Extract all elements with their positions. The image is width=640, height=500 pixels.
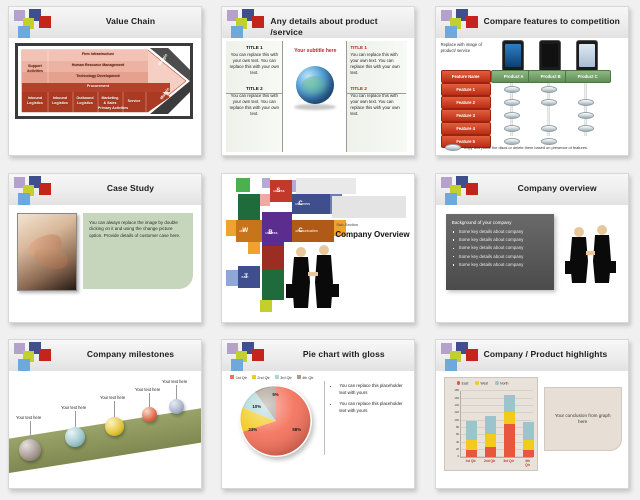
feature-cell-2: Feature 2 <box>441 96 491 109</box>
slide-header: Any details about product /service <box>222 7 414 39</box>
tile-label-success: Success <box>273 188 284 194</box>
slide-title: Company milestones <box>64 349 197 360</box>
gallery-cell: Any details about product /service TITLE… <box>213 0 426 167</box>
feature-disc[interactable] <box>541 86 557 93</box>
four-squares-logo-icon <box>13 176 59 206</box>
slide-body: Your text here Your text here Your text … <box>9 371 201 488</box>
column-divider <box>226 93 282 94</box>
pie-bullets: You can replace this placeholder text wi… <box>332 383 409 419</box>
bar-4th-qtr <box>523 422 534 458</box>
list-item: Some key details about company <box>452 236 548 244</box>
column-divider <box>346 93 406 94</box>
slide-header: Company overview <box>436 174 628 206</box>
y-tick: 120 <box>454 410 459 414</box>
pie-label-1: 58% <box>292 427 301 432</box>
handshake-silhouette <box>564 223 616 290</box>
slide-body: Background of your company Some key deta… <box>436 205 628 322</box>
background-info-box: Background of your company Some key deta… <box>446 214 554 290</box>
tile-label-communication: Communication <box>295 228 317 234</box>
gallery-cell: Pie chart with gloss 1st Qtr 2nd Qtr 3rd… <box>213 333 426 500</box>
four-squares-logo-icon <box>440 9 486 39</box>
handshake-photo <box>17 213 77 291</box>
x-tick: 3rd Qtr <box>503 459 514 463</box>
x-tick: 4th Qtr <box>525 459 530 467</box>
slide-title: Compare features to competition <box>484 16 624 27</box>
four-squares-logo-icon <box>13 9 59 39</box>
slide-header: Value Chain <box>9 7 201 39</box>
y-tick: 100 <box>454 418 459 422</box>
legend-entry-west: West <box>475 381 488 386</box>
tile-label-customers: Customers <box>295 201 310 207</box>
globe-shadow <box>294 104 336 110</box>
sub-section-label: Sub-Section <box>336 222 358 227</box>
case-study-body: You can always replace the image by doub… <box>83 213 193 247</box>
slide-title: Case Study <box>64 183 197 194</box>
feature-disc[interactable] <box>578 99 594 106</box>
left-text-1: You can replace this with your own text.… <box>226 50 282 76</box>
box-heading: Background of your company <box>446 214 554 228</box>
leader-line <box>30 421 31 439</box>
list-item: Some key details about company <box>452 253 548 261</box>
leader-line <box>114 401 115 417</box>
feature-disc[interactable] <box>541 99 557 106</box>
gallery-cell: Company / Product highlights East West N… <box>427 333 640 500</box>
milestone-label-4: Your text here <box>135 387 160 392</box>
leader-line <box>176 385 177 399</box>
y-tick: 40 <box>456 440 459 444</box>
x-tick: 2nd Qtr <box>484 459 495 463</box>
x-tick: 1st Qtr <box>466 459 476 463</box>
legend-entry-east: East <box>457 381 469 386</box>
slide-body: East West North 0 20 40 60 80 100 120 14… <box>436 371 628 488</box>
legend-entry-1: 1st Qtr <box>230 375 247 380</box>
legend-entry-4: 4th Qtr <box>297 375 314 380</box>
legend-entry-3: 3rd Qtr <box>275 375 292 380</box>
right-text-1: You can replace this with your own text.… <box>347 50 407 76</box>
feature-disc[interactable] <box>578 112 594 119</box>
slide-thumbnail-company-milestones[interactable]: Company milestones Your text here Your t… <box>8 339 202 489</box>
subtitle-text: Your subtitle here <box>284 48 346 54</box>
mosaic-slide-title: Company Overview <box>335 230 409 239</box>
gallery-cell: Case Study You can always replace the im… <box>0 167 213 334</box>
feature-disc[interactable] <box>541 138 557 145</box>
leader-line <box>149 393 150 407</box>
milestone-label-2: Your text here <box>61 405 86 410</box>
feature-disc[interactable] <box>541 125 557 132</box>
slide-title: Company overview <box>491 183 624 194</box>
slide-title: Company / Product highlights <box>484 349 624 360</box>
milestone-label-5: Your text here <box>162 379 187 384</box>
slide-body: SupportActivities Firm Infrastructure Hu… <box>9 38 201 155</box>
vertical-divider <box>324 381 325 455</box>
gallery-cell: Success Customers Work Business Communic… <box>213 167 426 334</box>
feature-disc[interactable] <box>504 112 520 119</box>
y-tick: 0 <box>458 454 460 458</box>
list-item: Some key details about company <box>452 228 548 236</box>
bar-chart-container: East West North 0 20 40 60 80 100 120 14… <box>444 377 538 471</box>
feature-cell-4: Feature 4 <box>441 122 491 135</box>
slide-title: Pie chart with gloss <box>277 349 410 360</box>
slide-thumbnail-compare-features[interactable]: Compare features to competition Replace … <box>435 6 629 156</box>
tile-label-work: Work <box>239 228 244 234</box>
conclusion-box: Your conclusion from graph here <box>544 387 622 451</box>
gallery-cell: Company milestones Your text here Your t… <box>0 333 213 500</box>
gallery-cell: Value Chain <box>0 0 213 167</box>
list-item: You can replace this placeholder text wi… <box>339 383 409 396</box>
slide-thumbnail-company-overview-mosaic[interactable]: Success Customers Work Business Communic… <box>221 173 415 323</box>
slide-header: Company / Product highlights <box>436 340 628 372</box>
list-item: Some key details about company <box>452 261 548 269</box>
pie-label-3: 10% <box>252 404 261 409</box>
slide-body: TITLE 1 You can replace this with your o… <box>222 38 414 155</box>
y-tick: 80 <box>456 425 459 429</box>
slide-thumbnail-product-highlights[interactable]: Company / Product highlights East West N… <box>435 339 629 489</box>
slide-thumbnail-pie-chart[interactable]: Pie chart with gloss 1st Qtr 2nd Qtr 3rd… <box>221 339 415 489</box>
handshake-silhouette-icon <box>284 242 342 310</box>
list-item: Some key details about company <box>452 244 548 252</box>
slide-header: Compare features to competition <box>436 7 628 39</box>
product-header-c: Product C <box>565 70 611 83</box>
pie-legend: 1st Qtr 2nd Qtr 3rd Qtr 4th Qtr <box>230 375 313 380</box>
slide-gallery: Value Chain <box>0 0 640 500</box>
left-text-2: You can replace this with your own text.… <box>226 91 282 117</box>
bar-1st-qtr <box>466 421 477 457</box>
slide-thumbnail-case-study[interactable]: Case Study You can always replace the im… <box>8 173 202 323</box>
list-item: You can replace this placeholder text wi… <box>339 401 409 414</box>
conclusion-text: Your conclusion from graph here <box>545 413 621 426</box>
feature-disc[interactable] <box>504 125 520 132</box>
phone-product-c <box>576 40 598 72</box>
feature-cell-1: Feature 1 <box>441 83 491 96</box>
y-tick: 160 <box>454 396 459 400</box>
handshake-silhouette <box>284 242 342 310</box>
slide-body: Replace with image of product/ service F… <box>436 38 628 155</box>
feature-disc[interactable] <box>504 99 520 106</box>
milestone-label-3: Your text here <box>100 395 125 400</box>
slide-header: Pie chart with gloss <box>222 340 414 372</box>
pie-label-2: 23% <box>248 427 257 432</box>
replace-image-note: Replace with image of product/ service <box>441 42 489 53</box>
feature-disc[interactable] <box>504 86 520 93</box>
slide-body: 1st Qtr 2nd Qtr 3rd Qtr 4th Qtr <box>222 371 414 488</box>
mosaic-background: Success Customers Work Business Communic… <box>222 174 414 322</box>
left-text-column: TITLE 1 You can replace this with your o… <box>226 41 283 152</box>
four-squares-logo-icon <box>226 342 272 372</box>
handshake-silhouette-icon <box>564 223 616 285</box>
bar-3rd-qtr <box>504 395 515 457</box>
slide-header: Case Study <box>9 174 201 206</box>
y-tick: 140 <box>454 403 459 407</box>
slide-title: Any details about product /service <box>270 16 410 38</box>
leader-line <box>75 411 76 427</box>
tile-label-team: Team <box>241 274 248 280</box>
key-details-list: Some key details about company Some key … <box>446 228 554 269</box>
four-squares-logo-icon <box>440 342 486 372</box>
right-text-2: You can replace this with your own text.… <box>347 91 407 117</box>
four-squares-logo-icon <box>440 176 486 206</box>
feature-header-cell: Feature Name <box>441 70 491 83</box>
phone-product-b <box>539 40 561 72</box>
y-tick: 20 <box>456 447 459 451</box>
globe-image <box>296 66 334 104</box>
slide-thumbnail-product-details[interactable]: Any details about product /service TITLE… <box>221 6 415 156</box>
gallery-cell: Company overview Background of your comp… <box>427 167 640 334</box>
gallery-cell: Compare features to competition Replace … <box>427 0 640 167</box>
feature-cell-3: Feature 3 <box>441 109 491 122</box>
legend-entry-2: 2nd Qtr <box>252 375 270 380</box>
slide-header: Company milestones <box>9 340 201 372</box>
value-chain-diagram: SupportActivities Firm Infrastructure Hu… <box>15 43 193 119</box>
four-squares-logo-icon <box>13 342 59 372</box>
y-tick: 180 <box>454 388 459 392</box>
slide-title: Value Chain <box>64 16 197 27</box>
feature-disc[interactable] <box>504 138 520 145</box>
slide-body: You can always replace the image by doub… <box>9 205 201 322</box>
pie-label-4: 5% <box>272 392 278 397</box>
phone-product-a <box>502 40 524 72</box>
y-tick: 60 <box>456 432 459 436</box>
right-text-column: TITLE 1 You can replace this with your o… <box>346 41 407 152</box>
tile-label-business: Business <box>265 230 277 236</box>
legend-entry-north: North <box>495 381 508 386</box>
slide-thumbnail-value-chain[interactable]: Value Chain <box>8 6 202 156</box>
milestone-label-1: Your text here <box>16 415 41 420</box>
four-squares-logo-icon <box>226 9 272 39</box>
legend-disc-icon <box>445 144 461 151</box>
case-study-text-box: You can always replace the image by doub… <box>83 213 193 289</box>
bar-chart-legend: East West North <box>457 381 509 386</box>
feature-disc[interactable] <box>578 125 594 132</box>
slide-thumbnail-company-overview[interactable]: Company overview Background of your comp… <box>435 173 629 323</box>
bar-chart-plot-area: 0 20 40 60 80 100 120 140 160 180 <box>460 391 533 458</box>
bar-2nd-qtr <box>485 416 496 457</box>
disc-footnote: Copy and paste the discs or delete them … <box>464 145 587 150</box>
